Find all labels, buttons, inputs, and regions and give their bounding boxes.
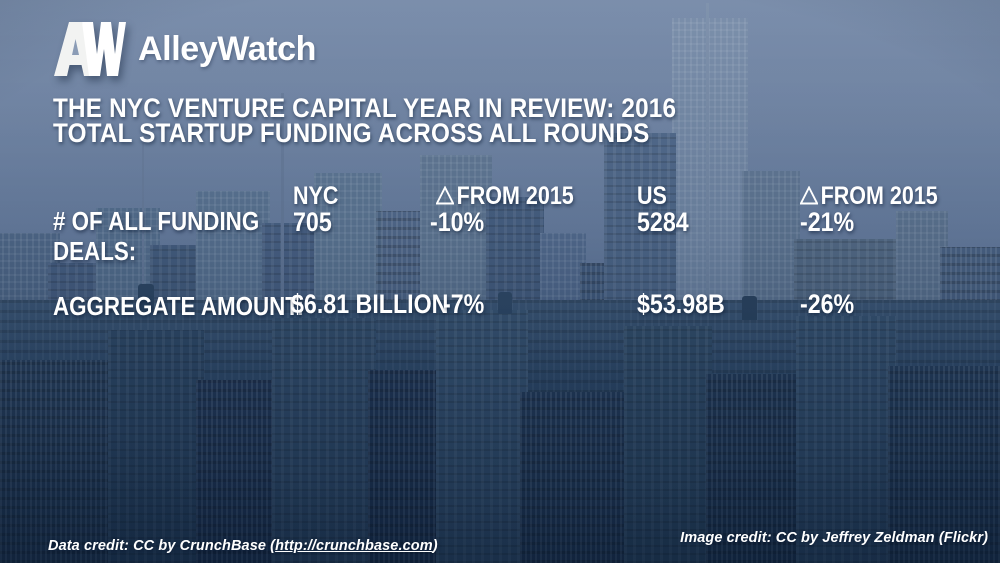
infographic-canvas: AlleyWatch THE NYC VENTURE CAPITAL YEAR … — [0, 0, 1000, 563]
column-header-nyc-delta-label: FROM 2015 — [457, 182, 574, 210]
value-nyc-aggregate-delta: -7% — [443, 290, 484, 318]
data-credit-suffix: ) — [433, 538, 438, 554]
value-nyc-aggregate-amount: $6.81 BILLION — [291, 290, 448, 318]
crunchbase-link[interactable]: http://crunchbase.com — [275, 538, 433, 554]
data-credit: Data credit: CC by CrunchBase (http://cr… — [48, 538, 438, 554]
column-header-nyc: NYC — [293, 182, 338, 210]
value-nyc-deal-count-delta: -10% — [430, 208, 484, 236]
value-us-aggregate-delta: -26% — [800, 290, 854, 318]
value-us-aggregate-amount: $53.98B — [637, 290, 725, 318]
image-credit: Image credit: CC by Jeffrey Zeldman (Fli… — [680, 530, 988, 546]
row-label-funding-deals-line1: # OF ALL FUNDING — [53, 206, 259, 236]
value-us-deal-count-delta: -21% — [800, 208, 854, 236]
row-label-aggregate-amount: AGGREGATE AMOUNT: — [53, 291, 304, 321]
row-label-funding-deals-line2: DEALS: — [53, 236, 136, 266]
value-us-deal-count: 5284 — [637, 208, 689, 236]
stats-table: NYC FROM 2015 US FROM 2015 # OF ALL FUND… — [0, 0, 1000, 563]
column-header-us: US — [637, 182, 667, 210]
value-nyc-deal-count: 705 — [293, 208, 332, 236]
column-header-us-delta-label: FROM 2015 — [821, 182, 938, 210]
data-credit-prefix: Data credit: CC by CrunchBase ( — [48, 538, 275, 554]
